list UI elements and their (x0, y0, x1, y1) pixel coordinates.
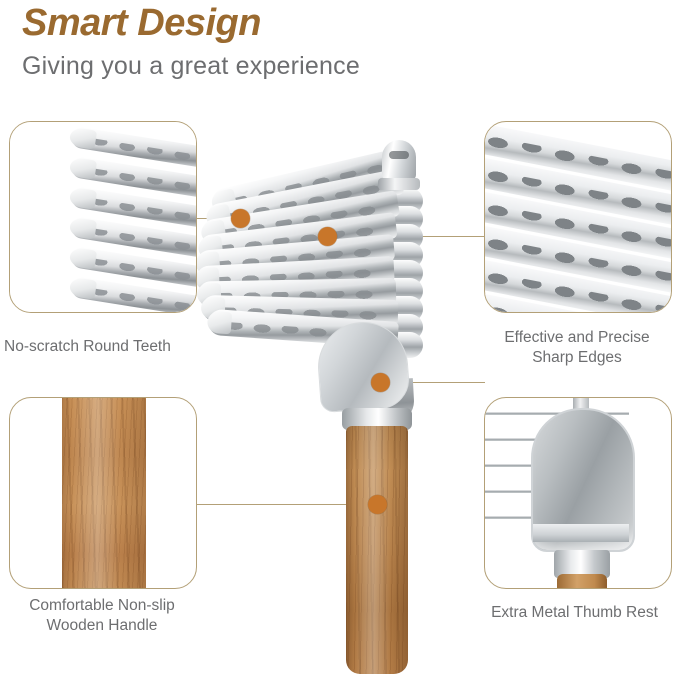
caption-round-teeth: No-scratch Round Teeth (4, 337, 234, 357)
page-title: Smart Design (22, 2, 261, 45)
caption-wooden-handle: Comfortable Non-slip Wooden Handle (9, 596, 195, 636)
marker-dot-thumb-rest[interactable] (371, 373, 390, 392)
marker-dot-teeth[interactable] (231, 209, 250, 228)
sharp-edges-zoom-image (485, 122, 671, 312)
caption-sharp-edges: Effective and Precise Sharp Edges (484, 328, 670, 368)
thumb-rest-band (533, 524, 629, 542)
infographic-canvas: Smart Design Giving you a great experien… (0, 0, 679, 672)
callout-round-teeth[interactable] (9, 121, 197, 313)
wooden-handle (346, 426, 408, 674)
callout-thumb-rest[interactable] (484, 397, 672, 589)
callout-sharp-edges[interactable] (484, 121, 672, 313)
cap-collar (378, 178, 420, 190)
thumb-rest-wood-top (557, 574, 607, 589)
marker-dot-handle[interactable] (368, 495, 387, 514)
callout-wooden-handle[interactable] (9, 397, 197, 589)
page-subtitle: Giving you a great experience (22, 52, 360, 81)
round-teeth-zoom-image (10, 122, 196, 312)
thumb-rest-zoom-image (485, 398, 671, 588)
cap-nut (382, 140, 416, 180)
marker-dot-edges[interactable] (318, 227, 337, 246)
caption-thumb-rest: Extra Metal Thumb Rest (470, 603, 679, 623)
wooden-handle-zoom-image (62, 397, 146, 589)
